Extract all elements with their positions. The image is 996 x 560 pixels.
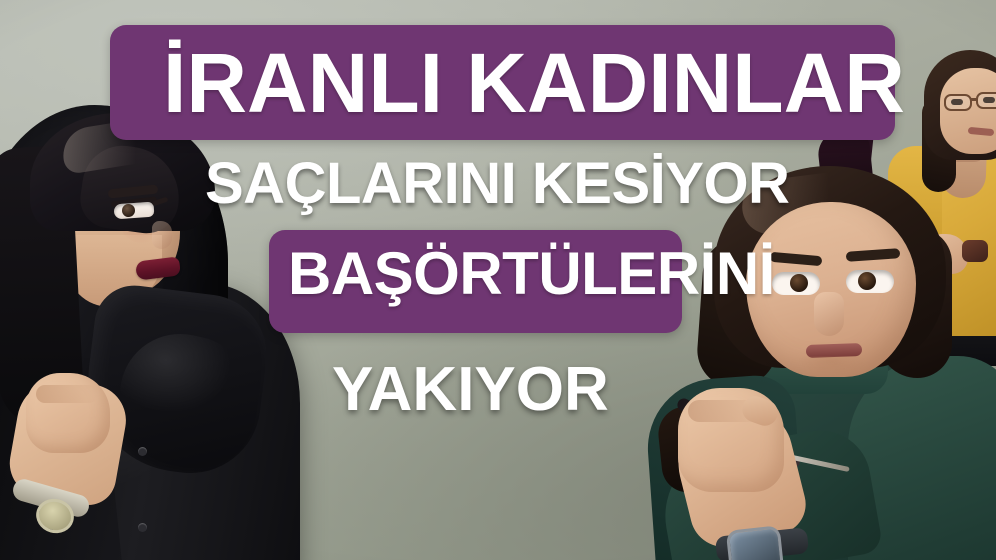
left-woman-knuckles [36,385,98,403]
right-woman-nose [814,292,844,336]
back-woman-face [940,68,996,154]
shirt-button-upper [138,447,147,456]
left-woman-iris [122,204,135,217]
smartwatch-face [726,525,785,560]
headline-line-2: SAÇLARINI KESİYOR [205,155,789,213]
shirt-button-lower [138,523,147,532]
headline-line-4: YAKIYOR [332,359,609,421]
glasses-bridge [971,98,978,101]
right-woman-iris-right [858,272,876,290]
right-woman-chin [794,356,870,382]
left-woman-nose [152,221,172,249]
right-woman-iris-left [790,274,808,292]
headline-line-1: İRANLI KADINLAR [163,41,905,125]
glasses-lens-right [976,92,996,109]
headline-line-3: BAŞÖRTÜLERİNİ [288,244,775,304]
thumbnail-canvas: İRANLI KADINLAR SAÇLARINI KESİYOR BAŞÖRT… [0,0,996,560]
glasses-lens-left [944,94,972,111]
